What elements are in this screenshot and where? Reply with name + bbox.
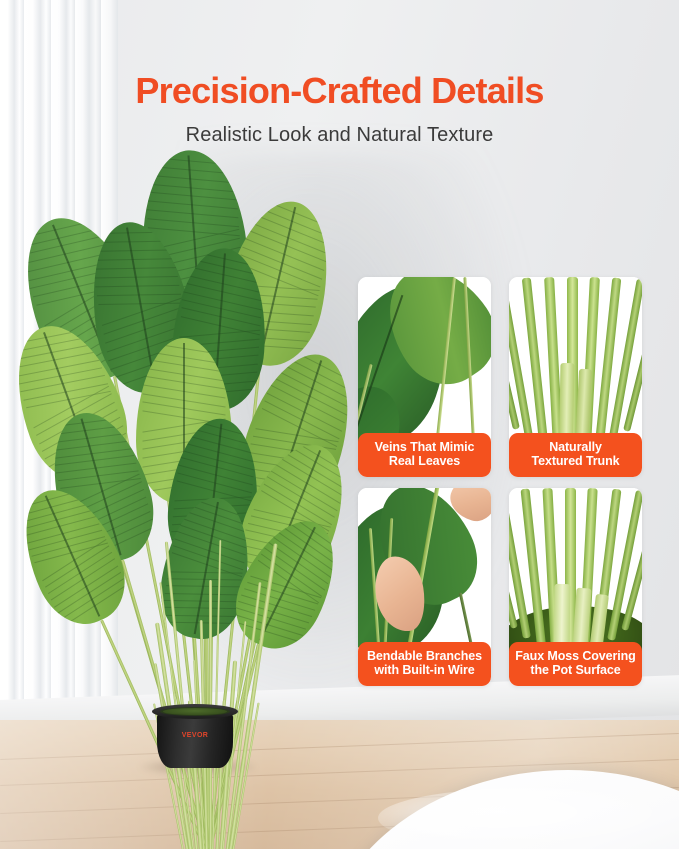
pot-moss-surface [163,708,227,715]
page-title: Precision-Crafted Details [0,72,679,110]
feature-card-leaf-veins[interactable]: Veins That Mimic Real Leaves [358,277,491,477]
caption-line-2: with Built-in Wire [362,663,487,678]
feature-card-bendable-branches[interactable]: Bendable Branches with Built-in Wire [358,488,491,686]
caption-line-2: Textured Trunk [513,454,638,469]
caption-line-1: Faux Moss Covering [513,649,638,664]
feature-card-trunk-texture[interactable]: Naturally Textured Trunk [509,277,642,477]
feature-card-grid: Veins That Mimic Real Leaves Naturally T… [358,277,642,686]
feature-caption-bendable-branches: Bendable Branches with Built-in Wire [358,642,491,687]
pot-body [157,714,233,768]
feature-card-faux-moss[interactable]: Faux Moss Covering the Pot Surface [509,488,642,686]
vevor-logo: VEVOR [152,732,238,739]
caption-line-2: Real Leaves [362,454,487,469]
trunk-stem-cluster [158,550,258,849]
caption-line-1: Veins That Mimic [362,440,487,455]
header-block: Precision-Crafted Details Realistic Look… [0,0,679,147]
caption-line-1: Bendable Branches [362,649,487,664]
feature-caption-trunk-texture: Naturally Textured Trunk [509,433,642,478]
pot-rim [152,704,238,719]
plant-pot: VEVOR [152,704,238,770]
artificial-plant [40,150,370,770]
feature-caption-faux-moss: Faux Moss Covering the Pot Surface [509,642,642,687]
caption-line-2: the Pot Surface [513,663,638,678]
page-subtitle: Realistic Look and Natural Texture [0,124,679,147]
caption-line-1: Naturally [513,440,638,455]
tub-highlight [378,788,678,848]
feature-caption-leaf-veins: Veins That Mimic Real Leaves [358,433,491,478]
